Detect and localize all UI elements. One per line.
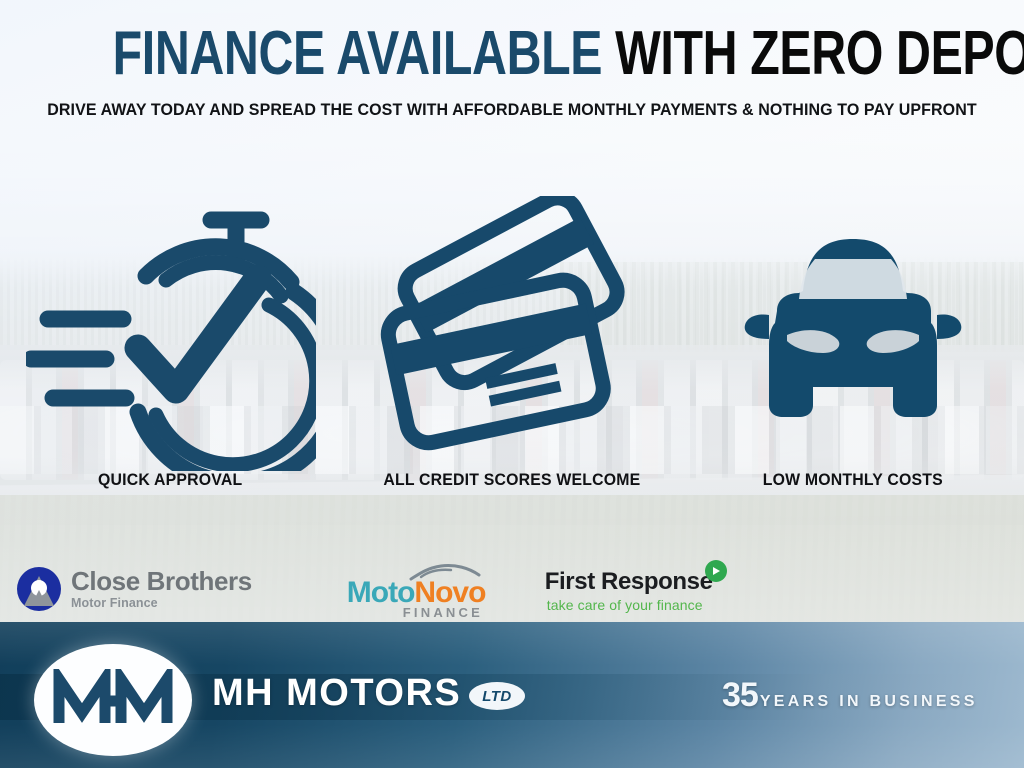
lender-close-brothers: Close Brothers Motor Finance — [16, 566, 252, 612]
years-number: 35 — [722, 678, 758, 712]
page-title: FINANCE AVAILABLE WITH ZERO DEPOSIT — [113, 24, 912, 85]
motonovo-wordmark: MotoNovo — [347, 578, 486, 608]
lender-name: Close Brothers — [71, 568, 252, 594]
headline-part-2: WITH ZERO DEPOSIT — [615, 19, 1024, 88]
lender-first-response: First Response take care of your finance — [545, 560, 745, 618]
feature-all-credit-scores: ALL CREDIT SCORES WELCOME — [341, 196, 682, 526]
years-in-business: 35 YEARS IN BUSINESS — [722, 678, 978, 712]
mhm-logo — [34, 644, 192, 756]
credit-cards-icon — [377, 196, 647, 471]
first-response-tagline: take care of your finance — [547, 597, 703, 613]
brand-wordmark: MH MOTORS — [212, 672, 461, 715]
lender-subtitle: Motor Finance — [71, 597, 252, 610]
years-label: YEARS IN BUSINESS — [760, 693, 978, 711]
lender-logos: Close Brothers Motor Finance MotoNovo FI… — [0, 556, 1024, 622]
feature-list: QUICK APPROVAL — [0, 196, 1024, 526]
headline-part-1: FINANCE AVAILABLE — [113, 19, 602, 88]
play-arrow-icon — [705, 560, 727, 582]
close-brothers-mark-icon — [16, 566, 62, 612]
close-brothers-wordmark: Close Brothers Motor Finance — [71, 568, 252, 610]
motonovo-subtitle: FINANCE — [403, 605, 483, 620]
finance-promo-banner: FINANCE AVAILABLE WITH ZERO DEPOSIT DRIV… — [0, 0, 1024, 768]
feature-label: LOW MONTHLY COSTS — [763, 471, 943, 490]
feature-label: ALL CREDIT SCORES WELCOME — [383, 471, 640, 490]
subheadline: DRIVE AWAY TODAY AND SPREAD THE COST WIT… — [37, 99, 988, 121]
lender-motonovo: MotoNovo FINANCE — [347, 560, 497, 618]
header: FINANCE AVAILABLE WITH ZERO DEPOSIT DRIV… — [0, 0, 1024, 121]
feature-low-monthly-costs: LOW MONTHLY COSTS — [683, 196, 1024, 526]
car-front-icon — [731, 196, 976, 471]
feature-label: QUICK APPROVAL — [98, 471, 242, 490]
feature-quick-approval: QUICK APPROVAL — [0, 196, 341, 526]
ltd-badge: LTD — [469, 682, 525, 710]
ltd-badge-label: LTD — [482, 688, 512, 705]
first-response-name: First Response — [545, 568, 713, 596]
stopwatch-check-icon — [26, 196, 316, 471]
